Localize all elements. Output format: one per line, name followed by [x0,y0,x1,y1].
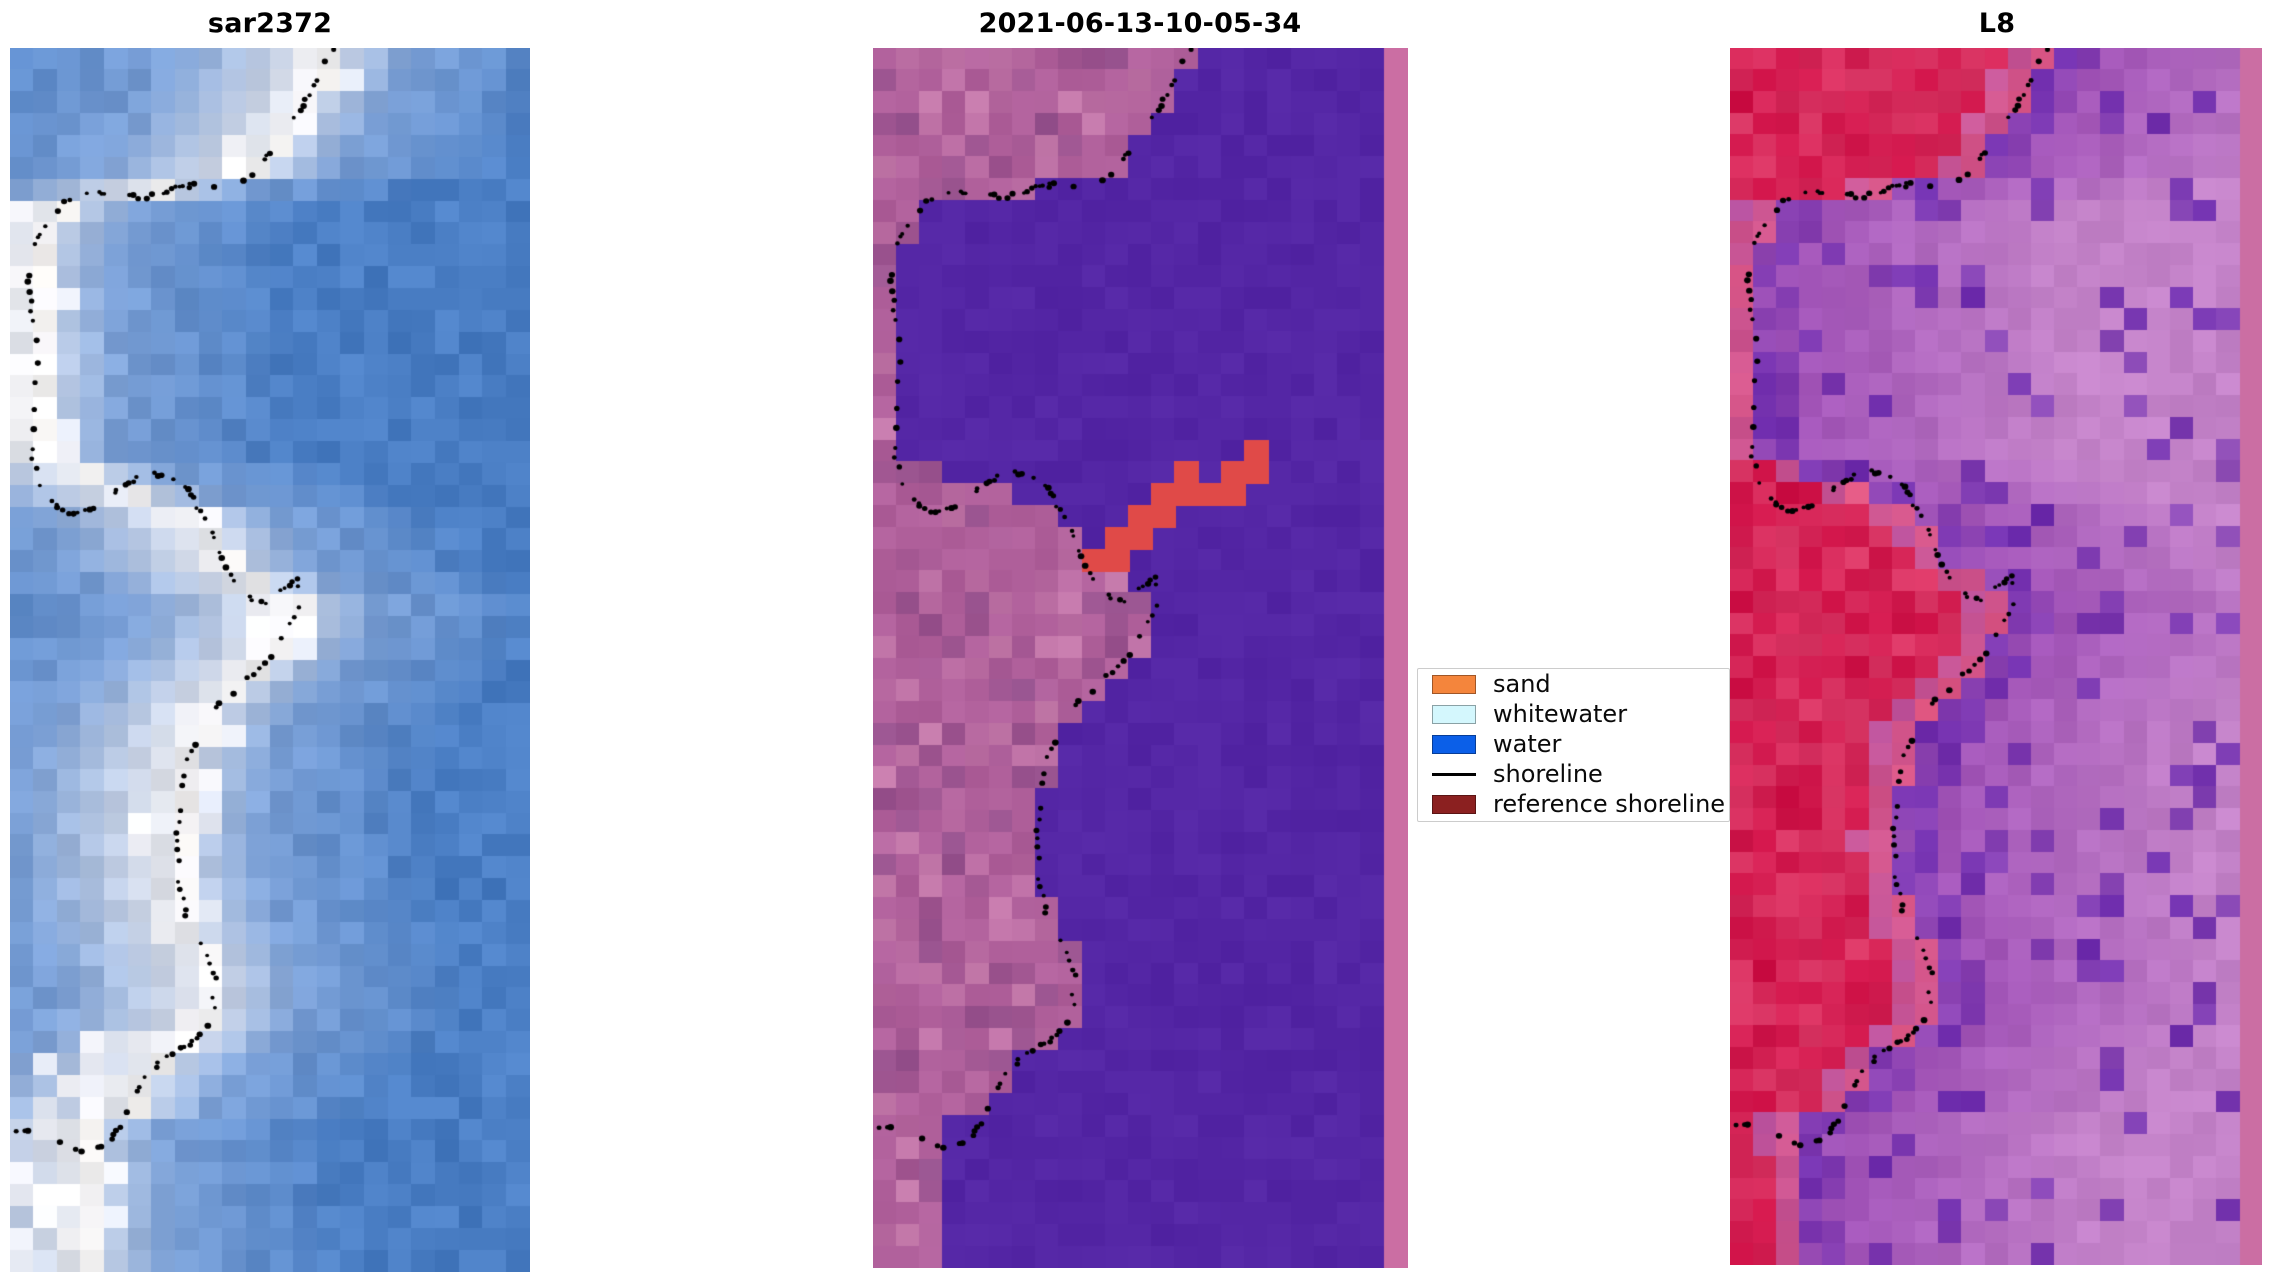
legend-item-whitewater[interactable]: whitewater [1418,699,1729,729]
legend-item-water[interactable]: water [1418,729,1729,759]
reference-shoreline-buffer-color-swatch [1432,795,1476,814]
whitewater-color-swatch [1432,705,1476,724]
panel-l8-image[interactable] [1730,48,2262,1265]
legend-item-shoreline[interactable]: shoreline [1418,759,1729,789]
legend[interactable]: sand whitewater water shoreline referenc… [1417,668,1730,822]
sar-image-canvas [10,48,530,1272]
legend-item-reference-shoreline-buffer[interactable]: reference shoreline buff [1418,789,1729,819]
legend-label-reference-shoreline-buffer: reference shoreline buff [1493,790,1730,818]
legend-label-whitewater: whitewater [1493,700,1627,728]
shoreline-line-swatch [1432,773,1476,776]
legend-item-sand[interactable]: sand [1418,669,1729,699]
legend-label-shoreline: shoreline [1493,760,1603,788]
sand-color-swatch [1432,675,1476,694]
classified-image-canvas [873,48,1408,1268]
water-color-swatch [1432,735,1476,754]
legend-label-sand: sand [1493,670,1551,698]
l8-image-canvas [1730,48,2262,1265]
panel-title-sar: sar2372 [0,8,570,39]
legend-label-water: water [1493,730,1561,758]
panel-classified-image[interactable] [873,48,1408,1268]
panel-sar-image[interactable] [10,48,530,1272]
panel-title-classified: 2021-06-13-10-05-34 [840,8,1440,39]
panel-title-l8: L8 [1697,8,2278,39]
